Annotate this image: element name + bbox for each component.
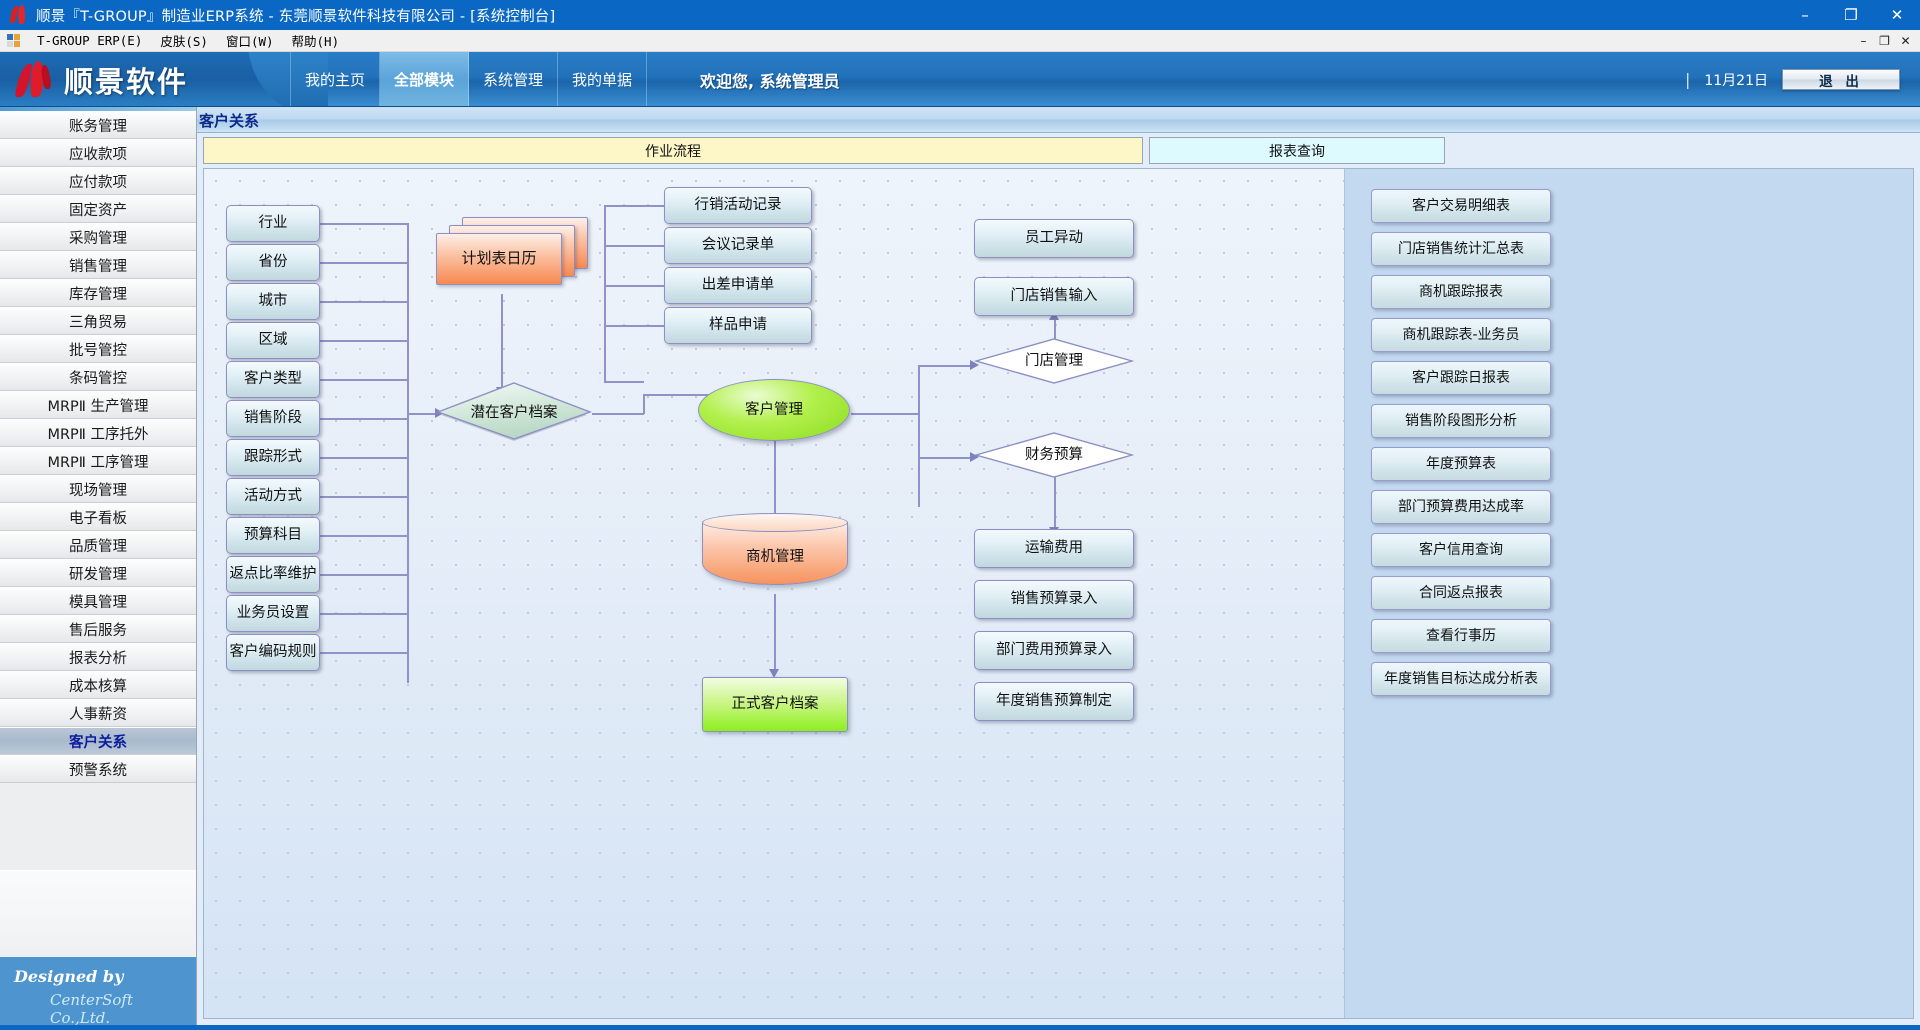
app-header: 顺景软件 我的主页 全部模块 系统管理 我的单据 欢迎您, 系统管理员 | 11… xyxy=(0,52,1920,107)
node-region[interactable]: 区域 xyxy=(226,322,320,359)
company-name-label: CenterSoft Co.,Ltd. xyxy=(50,991,196,1027)
node-province[interactable]: 省份 xyxy=(226,244,320,281)
node-annual-sales-budget[interactable]: 年度销售预算制定 xyxy=(974,682,1134,721)
mdi-minimize-button[interactable]: – xyxy=(1853,31,1874,51)
sidebar-item-lot-control[interactable]: 批号管控 xyxy=(0,335,196,363)
node-customer-code-rule[interactable]: 客户编码规则 xyxy=(226,634,320,671)
window-title: 顺景『T-GROUP』制造业ERP系统 - 东莞顺景软件科技有限公司 - [系统… xyxy=(36,5,555,26)
activity-bus-foot-line xyxy=(604,381,644,383)
status-machine: 复杂(Young-PC:FZ) xyxy=(101,1025,351,1030)
sidebar-item-after-sales[interactable]: 售后服务 xyxy=(0,615,196,643)
node-meeting-record[interactable]: 会议记录单 xyxy=(664,227,812,264)
close-button[interactable]: ✕ xyxy=(1874,0,1920,30)
main-nav-tabs: 我的主页 全部模块 系统管理 我的单据 xyxy=(290,52,647,107)
sidebar-item-inventory[interactable]: 库存管理 xyxy=(0,279,196,307)
connector-rebate-rate xyxy=(319,574,409,576)
header-separator: | xyxy=(1685,70,1690,89)
main-content: 客户关系 作业流程 报表查询 xyxy=(197,107,1920,1025)
status-user: 系统管理员 xyxy=(0,1025,100,1030)
node-employee-transfer[interactable]: 员工异动 xyxy=(974,219,1134,258)
node-tracking-form[interactable]: 跟踪形式 xyxy=(226,439,320,476)
status-network: 局域网 xyxy=(352,1025,462,1030)
mdi-app-icon xyxy=(7,34,21,48)
node-customer-type[interactable]: 客户类型 xyxy=(226,361,320,398)
node-transport-fee[interactable]: 运输费用 xyxy=(974,529,1134,568)
sidebar-item-purchasing[interactable]: 采购管理 xyxy=(0,223,196,251)
connector-sample-request xyxy=(604,325,664,327)
sidebar-item-triangle-trade[interactable]: 三角贸易 xyxy=(0,307,196,335)
mdi-close-button[interactable]: ✕ xyxy=(1895,31,1916,51)
node-sales-budget-entry[interactable]: 销售预算录入 xyxy=(974,580,1134,619)
node-rebate-rate[interactable]: 返点比率维护 xyxy=(226,556,320,593)
node-opportunity-management-label: 商机管理 xyxy=(746,549,804,566)
node-marketing-activity-record[interactable]: 行销活动记录 xyxy=(664,187,812,224)
opportunity-to-official-line xyxy=(774,594,776,672)
node-official-customer-file[interactable]: 正式客户档案 xyxy=(702,677,848,732)
sidebar-item-cost-accounting[interactable]: 成本核算 xyxy=(0,671,196,699)
header-date: 11月21日 xyxy=(1704,70,1768,90)
node-budget-subject[interactable]: 预算科目 xyxy=(226,517,320,554)
bus-to-finance-line xyxy=(918,457,972,459)
sidebar-item-hr-payroll[interactable]: 人事薪资 xyxy=(0,699,196,727)
report-customer-daily-tracking[interactable]: 客户跟踪日报表 xyxy=(1371,361,1551,395)
minimize-button[interactable]: – xyxy=(1782,0,1828,30)
connector-region xyxy=(319,340,409,342)
mdi-restore-button[interactable]: ❐ xyxy=(1874,31,1895,51)
finance-to-transport-line xyxy=(1054,474,1056,530)
sidebar-item-payables[interactable]: 应付款项 xyxy=(0,167,196,195)
sidebar-item-kanban[interactable]: 电子看板 xyxy=(0,503,196,531)
sidebar-item-shopfloor[interactable]: 现场管理 xyxy=(0,475,196,503)
bus-to-prospect-line xyxy=(407,413,437,415)
report-annual-budget[interactable]: 年度预算表 xyxy=(1371,447,1551,481)
window-controls: – ❐ ✕ xyxy=(1782,0,1920,30)
report-annual-sales-target[interactable]: 年度销售目标达成分析表 xyxy=(1371,662,1551,696)
node-store-management-label: 门店管理 xyxy=(1025,353,1083,370)
report-customer-credit-query[interactable]: 客户信用查询 xyxy=(1371,533,1551,567)
maximize-button[interactable]: ❐ xyxy=(1828,0,1874,30)
connector-customer-code-rule xyxy=(319,652,409,654)
sidebar-item-crm[interactable]: 客户关系 xyxy=(0,727,196,755)
sidebar-item-mrp-outsource[interactable]: MRPⅡ 工序托外 xyxy=(0,419,196,447)
tab-system-admin[interactable]: 系统管理 xyxy=(469,52,558,107)
calendar-card-front: 计划表日历 xyxy=(436,233,562,285)
sidebar-item-sales[interactable]: 销售管理 xyxy=(0,251,196,279)
shunjing-logo-icon xyxy=(14,60,58,100)
tab-all-modules[interactable]: 全部模块 xyxy=(380,52,469,107)
designed-by-label: Designed by xyxy=(14,967,196,986)
node-customer-management[interactable]: 客户管理 xyxy=(698,379,850,441)
mdi-window-controls: – ❐ ✕ xyxy=(1853,30,1916,52)
bus-to-store-line xyxy=(918,365,972,367)
connector-sales-stage xyxy=(319,418,409,420)
node-sample-request[interactable]: 样品申请 xyxy=(664,307,812,344)
prospect-out-line xyxy=(592,413,644,415)
connector-city xyxy=(319,301,409,303)
prospect-riser-line xyxy=(643,394,645,414)
node-plan-calendar-label: 计划表日历 xyxy=(461,250,536,267)
calendar-to-prospect-line xyxy=(501,294,503,389)
app-body: 账务管理 应收款项 应付款项 固定资产 采购管理 销售管理 库存管理 三角贸易 … xyxy=(0,107,1920,1025)
sidebar-item-receivables[interactable]: 应收款项 xyxy=(0,139,196,167)
cylinder-top-ellipse xyxy=(702,513,848,532)
connector-marketing-activity xyxy=(604,205,664,207)
sidebar-item-rnd[interactable]: 研发管理 xyxy=(0,559,196,587)
sidebar-item-accounting[interactable]: 账务管理 xyxy=(0,111,196,139)
connector-meeting-record xyxy=(604,245,664,247)
tab-my-homepage[interactable]: 我的主页 xyxy=(290,52,380,107)
welcome-message: 欢迎您, 系统管理员 xyxy=(700,52,840,107)
connector-activity-mode xyxy=(319,496,409,498)
right-bus-line xyxy=(918,365,920,507)
node-prospect-file[interactable]: 潜在客户档案 xyxy=(436,381,592,445)
report-opportunity-by-salesman[interactable]: 商机跟踪表-业务员 xyxy=(1371,318,1551,352)
node-plan-calendar[interactable]: 计划表日历 xyxy=(436,217,588,289)
customer-right-line xyxy=(851,413,919,415)
node-city[interactable]: 城市 xyxy=(226,283,320,320)
connector-travel-request xyxy=(604,285,664,287)
header-right-area: | 11月21日 退 出 xyxy=(1685,52,1900,107)
tab-work-flow[interactable]: 作业流程 xyxy=(203,137,1143,164)
sidebar-item-mrp-process[interactable]: MRPⅡ 工序管理 xyxy=(0,447,196,475)
activity-bus-line xyxy=(604,205,606,381)
report-dept-budget-achievement[interactable]: 部门预算费用达成率 xyxy=(1371,490,1551,524)
connector-province xyxy=(319,262,409,264)
sidebar-item-list: 账务管理 应收款项 应付款项 固定资产 采购管理 销售管理 库存管理 三角贸易 … xyxy=(0,111,196,870)
app-logo-icon xyxy=(8,5,30,25)
page-title: 客户关系 xyxy=(197,110,259,131)
brand-area: 顺景软件 xyxy=(0,52,290,107)
report-contract-rebate[interactable]: 合同返点报表 xyxy=(1371,576,1551,610)
report-store-sales-summary[interactable]: 门店销售统计汇总表 xyxy=(1371,232,1551,266)
sidebar-item-mrp-production[interactable]: MRPⅡ 生产管理 xyxy=(0,391,196,419)
node-industry[interactable]: 行业 xyxy=(226,205,320,242)
report-opportunity-tracking[interactable]: 商机跟踪报表 xyxy=(1371,275,1551,309)
connector-salesman-setting xyxy=(319,613,409,615)
node-travel-request[interactable]: 出差申请单 xyxy=(664,267,812,304)
sidebar-item-report-analysis[interactable]: 报表分析 xyxy=(0,643,196,671)
sidebar-filler xyxy=(0,870,196,958)
section-tab-bar: 作业流程 报表查询 xyxy=(203,137,1914,164)
node-salesman-setting[interactable]: 业务员设置 xyxy=(226,595,320,632)
menu-item-erp[interactable]: T-GROUP ERP(E) xyxy=(28,31,151,50)
module-sidebar: 账务管理 应收款项 应付款项 固定资产 采购管理 销售管理 库存管理 三角贸易 … xyxy=(0,107,197,1025)
tab-report-query[interactable]: 报表查询 xyxy=(1149,137,1445,164)
status-bar: 系统管理员 复杂(Young-PC:FZ) 局域网 预警[2] 消息[9] xyxy=(0,1025,1920,1030)
sidebar-item-alert-system[interactable]: 预警系统 xyxy=(0,755,196,783)
sidebar-item-barcode[interactable]: 条码管控 xyxy=(0,363,196,391)
breadcrumb-bar: 客户关系 xyxy=(197,107,1920,133)
tab-my-documents[interactable]: 我的单据 xyxy=(558,52,647,107)
node-opportunity-management[interactable]: 商机管理 xyxy=(702,513,848,585)
sidebar-item-quality[interactable]: 品质管理 xyxy=(0,531,196,559)
node-dept-expense-budget[interactable]: 部门费用预算录入 xyxy=(974,631,1134,670)
node-finance-budget-label: 财务预算 xyxy=(1025,447,1083,464)
window-titlebar: 顺景『T-GROUP』制造业ERP系统 - 东莞顺景软件科技有限公司 - [系统… xyxy=(0,0,1920,30)
report-customer-transaction-detail[interactable]: 客户交易明细表 xyxy=(1371,189,1551,223)
node-activity-mode[interactable]: 活动方式 xyxy=(226,478,320,515)
menu-item-help[interactable]: 帮助(H) xyxy=(283,29,349,52)
flowchart-canvas: 行业 省份 城市 区域 客户类型 销售阶段 跟踪形式 活动方式 预算科目 返点比… xyxy=(203,168,1914,1019)
node-sales-stage[interactable]: 销售阶段 xyxy=(226,400,320,437)
connector-track-form xyxy=(319,457,409,459)
sidebar-item-fixed-assets[interactable]: 固定资产 xyxy=(0,195,196,223)
connector-industry xyxy=(319,223,409,225)
logout-button[interactable]: 退 出 xyxy=(1782,69,1900,90)
connector-customer-type xyxy=(319,379,409,381)
status-empty-1 xyxy=(463,1025,663,1030)
node-store-management[interactable]: 门店管理 xyxy=(974,337,1134,385)
report-view-calendar[interactable]: 查看行事历 xyxy=(1371,619,1551,653)
brand-name: 顺景软件 xyxy=(64,59,188,101)
report-sales-stage-graph[interactable]: 销售阶段图形分析 xyxy=(1371,404,1551,438)
sidebar-item-mold[interactable]: 模具管理 xyxy=(0,587,196,615)
node-prospect-file-label: 潜在客户档案 xyxy=(471,405,558,422)
sidebar-footer: Designed by CenterSoft Co.,Ltd. xyxy=(0,957,196,1025)
menu-item-window[interactable]: 窗口(W) xyxy=(217,29,283,52)
node-finance-budget[interactable]: 财务预算 xyxy=(974,431,1134,479)
connector-budget-subject xyxy=(319,535,409,537)
customer-to-opportunity-line xyxy=(774,440,776,522)
application-menubar: T-GROUP ERP(E) 皮肤(S) 窗口(W) 帮助(H) – ❐ ✕ xyxy=(0,30,1920,52)
node-store-sales-input[interactable]: 门店销售输入 xyxy=(974,277,1134,316)
menu-item-skin[interactable]: 皮肤(S) xyxy=(151,29,217,52)
